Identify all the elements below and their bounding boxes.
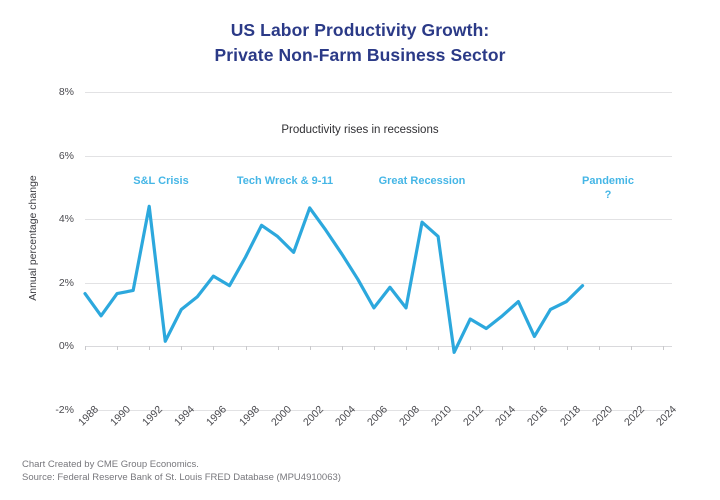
footer-credit: Chart Created by CME Group Economics. <box>22 458 341 471</box>
chart-footer: Chart Created by CME Group Economics. So… <box>22 458 341 484</box>
data-series-line <box>85 206 583 352</box>
footer-source: Source: Federal Reserve Bank of St. Loui… <box>22 471 341 484</box>
chart-container: US Labor Productivity Growth: Private No… <box>0 0 720 500</box>
plot-area <box>0 0 720 500</box>
